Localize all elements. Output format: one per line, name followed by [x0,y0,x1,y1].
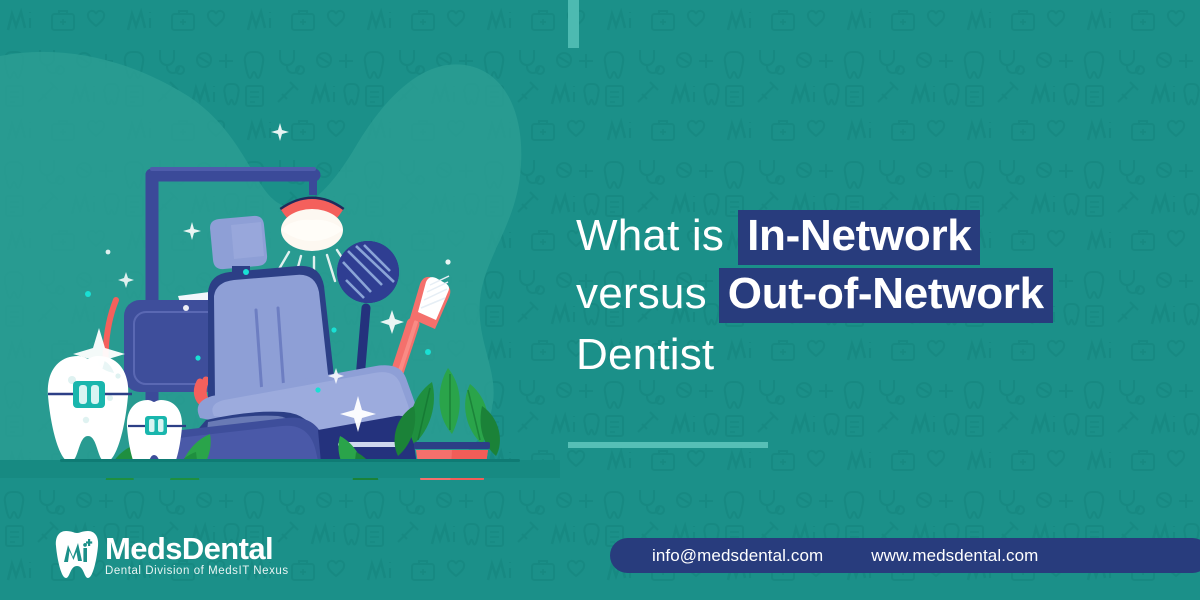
illustration-ground [0,460,560,478]
contact-email[interactable]: info@medsdental.com [652,546,823,566]
logo-subtitle: Dental Division of MedsIT Nexus [105,565,289,577]
tooth-large-with-braces-icon [48,356,132,462]
headline-line3-plain: Dentist [576,333,714,384]
contact-website[interactable]: www.medsdental.com [871,546,1038,566]
illustration-ground-line [60,459,520,462]
headline-line-1: What is In-Network [576,210,1186,265]
contact-bar: info@medsdental.com www.medsdental.com [610,538,1200,573]
headline-line-2: versus Out-of-Network [576,268,1186,323]
tooth-monogram-icon [55,530,99,580]
banner-root: What is In-Network versus Out-of-Network… [0,0,1200,600]
headline-block: What is In-Network versus Out-of-Network… [576,210,1186,387]
headline-line2-highlight: Out-of-Network [719,268,1053,323]
headline-line2-plain: versus [576,272,707,323]
headline-line1-plain: What is [576,214,724,265]
top-accent-tick [568,0,579,48]
logo-title: MedsDental [105,533,289,565]
headline-line-3: Dentist [576,333,1186,384]
dental-office-illustration [0,100,560,480]
headline-line1-highlight: In-Network [738,210,980,265]
brand-logo: MedsDental Dental Division of MedsIT Nex… [55,530,289,580]
headline-divider [568,442,768,448]
